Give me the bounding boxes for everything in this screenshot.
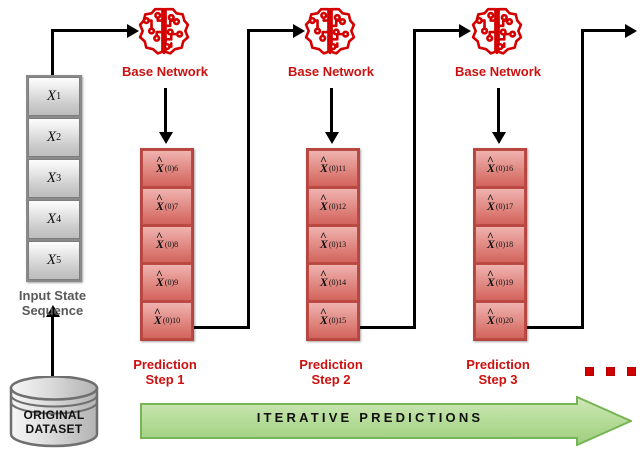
pred-x20-base: X	[487, 313, 496, 328]
prediction-cell-x8[interactable]: X(0)8	[142, 226, 192, 263]
base-network-2-icon-wrapper[interactable]	[304, 5, 356, 57]
input-cell-x4[interactable]: X4	[28, 200, 80, 239]
base-network-1-icon-wrapper[interactable]	[138, 5, 190, 57]
arrowhead-to-stack2	[325, 132, 339, 144]
input-cell-x3-sub: 3	[56, 173, 61, 184]
prediction-cell-x7[interactable]: X(0)7	[142, 188, 192, 225]
prediction-cell-x16[interactable]: X(0)16	[475, 150, 525, 187]
connector-input-to-net1-vertical	[51, 29, 54, 77]
pred-x16-sup: (0)	[496, 164, 505, 173]
continuation-dot-2	[606, 367, 615, 376]
pred-x9-sup: (0)	[165, 278, 174, 287]
prediction-cell-x15[interactable]: X(0)15	[308, 302, 358, 339]
circuit-brain-icon	[304, 5, 356, 57]
arrowhead-to-stack1	[159, 132, 173, 144]
input-cell-x4-sub: 4	[56, 214, 61, 225]
pred-x6-base: X	[156, 161, 165, 176]
pred-x13-base: X	[320, 237, 329, 252]
pred-x12-sub: 12	[338, 202, 346, 211]
connector-net2-to-stack2-vertical	[330, 88, 333, 134]
pred-x9-base: X	[156, 275, 165, 290]
continuation-dot-3	[627, 367, 636, 376]
input-cell-x5-base: X	[47, 252, 56, 269]
pred-x17-sup: (0)	[496, 202, 505, 211]
pred-x6-sup: (0)	[165, 164, 174, 173]
prediction-cell-x9[interactable]: X(0)9	[142, 264, 192, 301]
pred-x15-sub: 15	[338, 316, 346, 325]
connector-stack1-to-net2-top	[247, 29, 295, 32]
pred-x17-sub: 17	[505, 202, 513, 211]
circuit-brain-icon	[138, 5, 190, 57]
pred-x10-sub: 10	[172, 316, 180, 325]
connector-net1-to-stack1-vertical	[164, 88, 167, 134]
prediction-step-2-line2: Step 2	[276, 372, 386, 387]
connector-stack2-to-net3-horizontal	[354, 326, 416, 329]
connector-dataset-to-input-vertical	[51, 315, 54, 377]
original-dataset-label: ORIGINAL DATASET	[8, 408, 100, 436]
pred-x11-sub: 11	[338, 164, 346, 173]
prediction-cell-x20[interactable]: X(0)20	[475, 302, 525, 339]
pred-x11-sup: (0)	[329, 164, 338, 173]
pred-x19-base: X	[487, 275, 496, 290]
prediction-step-1-line1: Prediction	[110, 357, 220, 372]
prediction-step-1-label: Prediction Step 1	[110, 357, 220, 387]
pred-x7-sub: 7	[174, 202, 178, 211]
input-cell-x3[interactable]: X3	[28, 159, 80, 198]
pred-x15-sup: (0)	[329, 316, 338, 325]
pred-x10-sup: (0)	[163, 316, 172, 325]
pred-x6-sub: 6	[174, 164, 178, 173]
prediction-cell-x10[interactable]: X(0)10	[142, 302, 192, 339]
pred-x17-base: X	[487, 199, 496, 214]
prediction-step-3-stack[interactable]: X(0)16 X(0)17 X(0)18 X(0)19 X(0)20	[473, 148, 527, 341]
original-dataset-cylinder[interactable]: ORIGINAL DATASET	[8, 376, 100, 448]
input-cell-x5-sub: 5	[56, 255, 61, 266]
pred-x14-sup: (0)	[329, 278, 338, 287]
prediction-step-2-stack[interactable]: X(0)11 X(0)12 X(0)13 X(0)14 X(0)15	[306, 148, 360, 341]
pred-x8-base: X	[156, 237, 165, 252]
dataset-label-line2: DATASET	[8, 422, 100, 436]
pred-x20-sup: (0)	[496, 316, 505, 325]
pred-x20-sub: 20	[505, 316, 513, 325]
prediction-step-1-stack[interactable]: X(0)6 X(0)7 X(0)8 X(0)9 X(0)10	[140, 148, 194, 341]
circuit-brain-icon	[471, 5, 523, 57]
input-state-sequence-label: Input State Sequence	[0, 288, 105, 318]
pred-x7-sup: (0)	[165, 202, 174, 211]
prediction-cell-x18[interactable]: X(0)18	[475, 226, 525, 263]
prediction-step-2-line1: Prediction	[276, 357, 386, 372]
connector-stack1-to-net2-horizontal	[188, 326, 250, 329]
input-label-line1: Input State	[0, 288, 105, 303]
input-cell-x2[interactable]: X2	[28, 118, 80, 157]
input-cell-x1[interactable]: X1	[28, 77, 80, 116]
pred-x12-sup: (0)	[329, 202, 338, 211]
pred-x19-sub: 19	[505, 278, 513, 287]
pred-x13-sub: 13	[338, 240, 346, 249]
prediction-step-2-label: Prediction Step 2	[276, 357, 386, 387]
input-cell-x2-base: X	[47, 129, 56, 146]
base-network-2-label: Base Network	[276, 64, 386, 79]
dataset-label-line1: ORIGINAL	[8, 408, 100, 422]
base-network-3-icon-wrapper[interactable]	[471, 5, 523, 57]
base-network-3-label: Base Network	[443, 64, 553, 79]
connector-input-to-net1-horizontal	[51, 29, 129, 32]
prediction-cell-x14[interactable]: X(0)14	[308, 264, 358, 301]
pred-x8-sub: 8	[174, 240, 178, 249]
input-cell-x4-base: X	[47, 211, 56, 228]
pred-x9-sub: 9	[174, 278, 178, 287]
connector-stack3-to-next-horizontal	[520, 326, 584, 329]
pred-x13-sup: (0)	[329, 240, 338, 249]
arrowhead-to-next-step	[625, 24, 637, 38]
pred-x14-sub: 14	[338, 278, 346, 287]
prediction-cell-x12[interactable]: X(0)12	[308, 188, 358, 225]
pred-x7-base: X	[156, 199, 165, 214]
pred-x11-base: X	[320, 161, 329, 176]
prediction-cell-x6[interactable]: X(0)6	[142, 150, 192, 187]
pred-x8-sup: (0)	[165, 240, 174, 249]
input-cell-x1-base: X	[47, 88, 56, 105]
pred-x18-base: X	[487, 237, 496, 252]
arrowhead-to-net3	[459, 24, 471, 38]
prediction-step-3-line1: Prediction	[443, 357, 553, 372]
pred-x14-base: X	[320, 275, 329, 290]
prediction-step-1-line2: Step 1	[110, 372, 220, 387]
pred-x15-base: X	[320, 313, 329, 328]
continuation-dot-1	[585, 367, 594, 376]
pred-x16-base: X	[487, 161, 496, 176]
prediction-step-3-label: Prediction Step 3	[443, 357, 553, 387]
input-label-line2: Sequence	[0, 303, 105, 318]
input-cell-x2-sub: 2	[56, 132, 61, 143]
prediction-step-3-line2: Step 3	[443, 372, 553, 387]
pred-x12-base: X	[320, 199, 329, 214]
connector-stack2-to-net3-top	[413, 29, 461, 32]
prediction-cell-x17[interactable]: X(0)17	[475, 188, 525, 225]
iterative-predictions-label: ITERATIVE PREDICTIONS	[180, 410, 560, 425]
input-cell-x3-base: X	[47, 170, 56, 187]
input-cell-x1-sub: 1	[56, 91, 61, 102]
pred-x16-sub: 16	[505, 164, 513, 173]
pred-x10-base: X	[154, 313, 163, 328]
pred-x18-sub: 18	[505, 240, 513, 249]
input-state-sequence-stack[interactable]: X1 X2 X3 X4 X5	[26, 75, 82, 282]
connector-stack1-to-net2-vertical	[247, 29, 250, 329]
input-cell-x5[interactable]: X5	[28, 241, 80, 280]
prediction-cell-x19[interactable]: X(0)19	[475, 264, 525, 301]
connector-net3-to-stack3-vertical	[497, 88, 500, 134]
pred-x18-sup: (0)	[496, 240, 505, 249]
pred-x19-sup: (0)	[496, 278, 505, 287]
connector-stack3-to-next-vertical	[581, 29, 584, 329]
arrowhead-to-stack3	[492, 132, 506, 144]
connector-stack2-to-net3-vertical	[413, 29, 416, 329]
base-network-1-label: Base Network	[110, 64, 220, 79]
prediction-cell-x13[interactable]: X(0)13	[308, 226, 358, 263]
prediction-cell-x11[interactable]: X(0)11	[308, 150, 358, 187]
diagram-canvas: X1 X2 X3 X4 X5 Input State Sequence	[0, 0, 640, 453]
connector-stack3-to-next-top	[581, 29, 627, 32]
